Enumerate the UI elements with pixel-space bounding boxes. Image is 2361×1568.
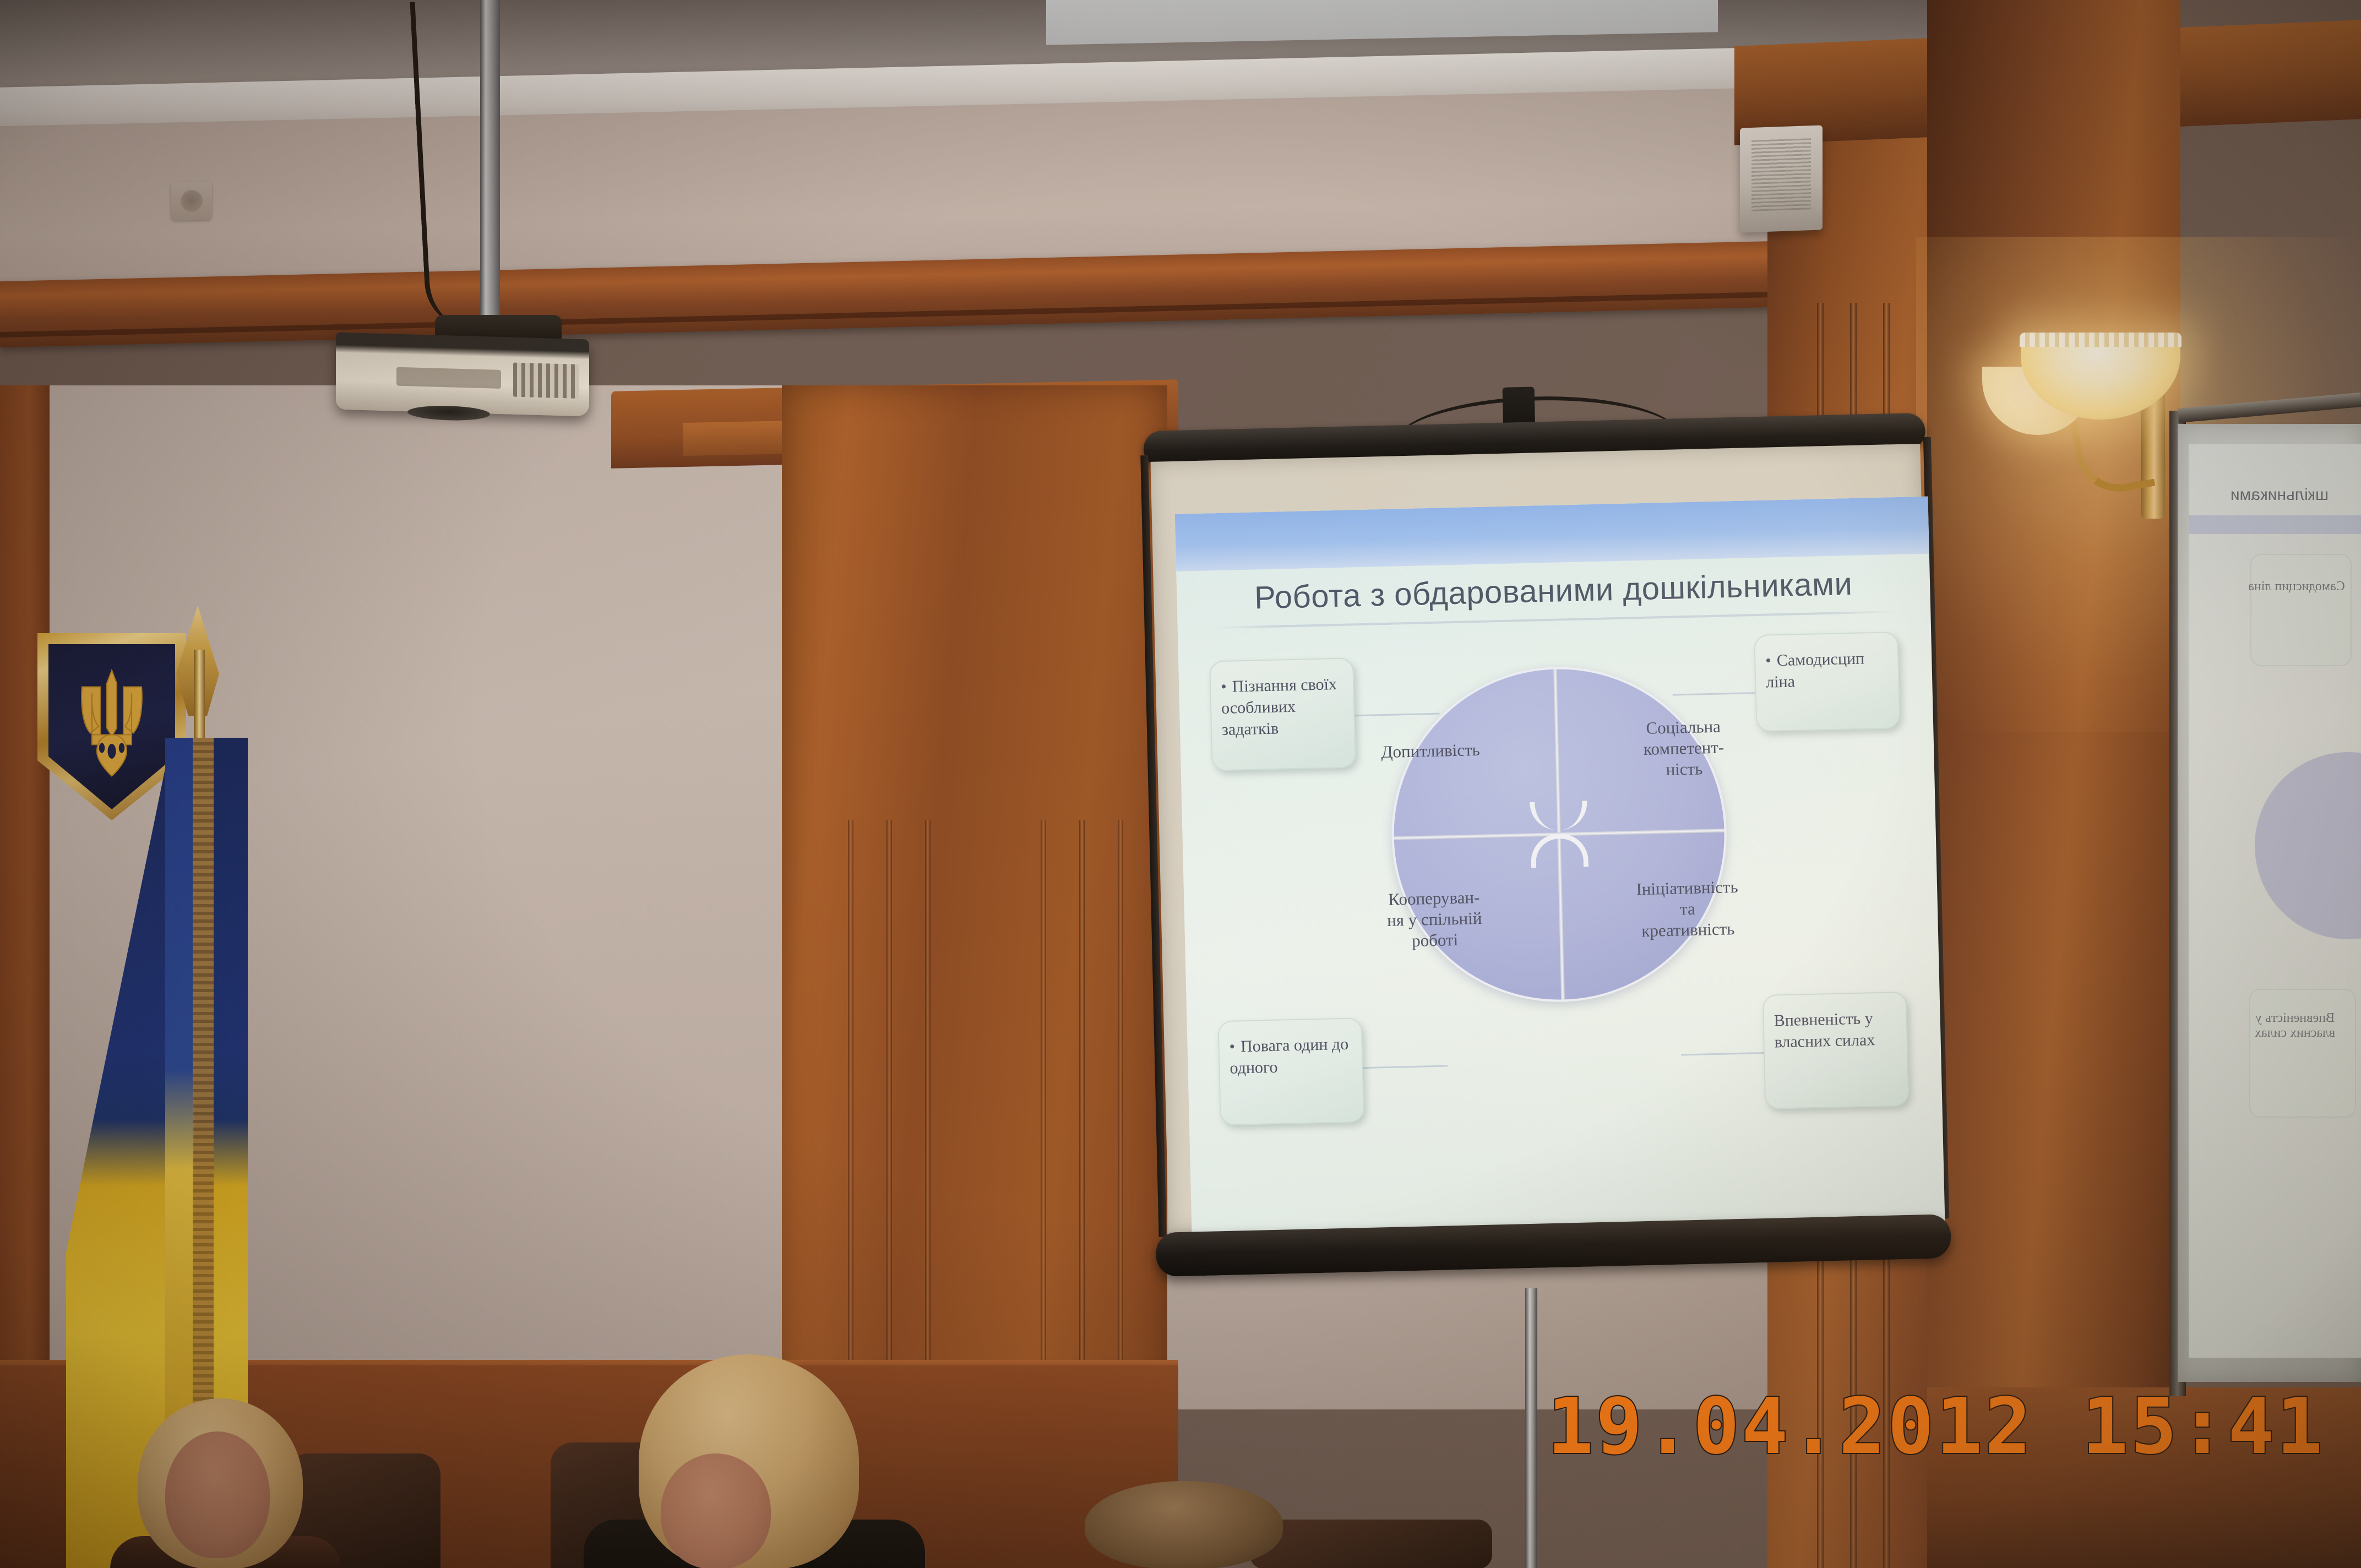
camera-timestamp: 19.04.2012 15:41 xyxy=(1547,1382,2325,1472)
screen-tripod-pole xyxy=(1525,1288,1537,1568)
mirror-frame-top xyxy=(2178,393,2361,423)
diagram-circle xyxy=(1388,663,1731,1006)
callout-bottom-left-text: Повага один до одного xyxy=(1230,1035,1348,1077)
table-edge xyxy=(1250,1520,1492,1568)
tryzub-icon xyxy=(70,664,153,782)
projector-ports xyxy=(396,367,501,389)
mirror-reflected-callout-1 xyxy=(2250,554,2352,666)
wood-right-frame xyxy=(1927,0,2180,1568)
mirror-reflected-callout-2 xyxy=(2249,989,2356,1118)
slide-header-band xyxy=(1175,497,1929,571)
connector-bottom-right xyxy=(1681,1052,1767,1056)
mirror-reflected-callout-1-text: Самодисцип ліна xyxy=(2242,579,2352,594)
wall-socket xyxy=(171,181,212,221)
connector-top-left xyxy=(1351,713,1439,717)
bullet-icon: • xyxy=(1221,676,1227,698)
connector-top-right xyxy=(1673,692,1759,696)
callout-top-left: •Пізнання своїх особливих задатків xyxy=(1209,657,1356,771)
callout-top-right-text: Самодисцип ліна xyxy=(1766,649,1865,691)
presentation-slide: Робота з обдарованими дошкільниками Допи… xyxy=(1175,497,1946,1270)
person-left-face xyxy=(165,1431,270,1558)
slide-diagram: Допитливість Соціальна компетент- ність … xyxy=(1178,619,1946,1270)
mirror-reflected-band xyxy=(2189,515,2361,534)
bullet-icon: • xyxy=(1229,1036,1235,1058)
callout-bottom-right: Впевненість у власних силах xyxy=(1762,992,1910,1109)
bullet-icon: • xyxy=(1765,650,1771,671)
flag-fringe xyxy=(193,738,214,1509)
callout-bottom-right-text: Впевненість у власних силах xyxy=(1774,1009,1875,1051)
connector-bottom-left xyxy=(1360,1065,1448,1069)
callout-top-right: •Самодисцип ліна xyxy=(1754,631,1900,732)
projector-mount-pole xyxy=(480,0,500,324)
ceiling-speaker xyxy=(1740,125,1823,232)
conference-room-photo: Робота з обдарованими дошкільниками Допи… xyxy=(0,0,2361,1568)
projector-vent xyxy=(513,363,579,399)
mirror-reflected-slide: шкільниками Самодисцип ліна Впевненість … xyxy=(2189,444,2361,1358)
mirror-reflected-circle xyxy=(2255,752,2361,939)
ceiling-projector xyxy=(336,333,589,417)
mirror-reflected-title: шкільниками xyxy=(2189,486,2361,504)
quadrant-label-top-left: Допитливість xyxy=(1362,739,1500,763)
slide-title: Робота з обдарованими дошкільниками xyxy=(1177,564,1930,618)
person-center-face xyxy=(661,1453,771,1568)
quadrant-label-top-right: Соціальна компетент- ність xyxy=(1614,715,1754,781)
mirror-reflected-callout-2-text: Впевненість у власних силах xyxy=(2237,1011,2353,1041)
screen-surface: Робота з обдарованими дошкільниками Допи… xyxy=(1151,444,1939,1233)
person-right-hair xyxy=(1085,1481,1283,1568)
circle-hub-icon xyxy=(1531,803,1587,865)
tripod-projection-screen: Робота з обдарованими дошкільниками Допи… xyxy=(1135,398,1965,1287)
callout-top-left-text: Пізнання своїх особливих задатків xyxy=(1221,675,1337,739)
callout-bottom-left: •Повага один до одного xyxy=(1217,1017,1364,1125)
wall-mirror-panel: шкільниками Самодисцип ліна Впевненість … xyxy=(2178,424,2361,1382)
quadrant-label-bottom-left: Кооперуван- ня у спільній роботі xyxy=(1365,886,1504,952)
quadrant-label-bottom-right: Ініціативність та креативність xyxy=(1618,876,1758,941)
